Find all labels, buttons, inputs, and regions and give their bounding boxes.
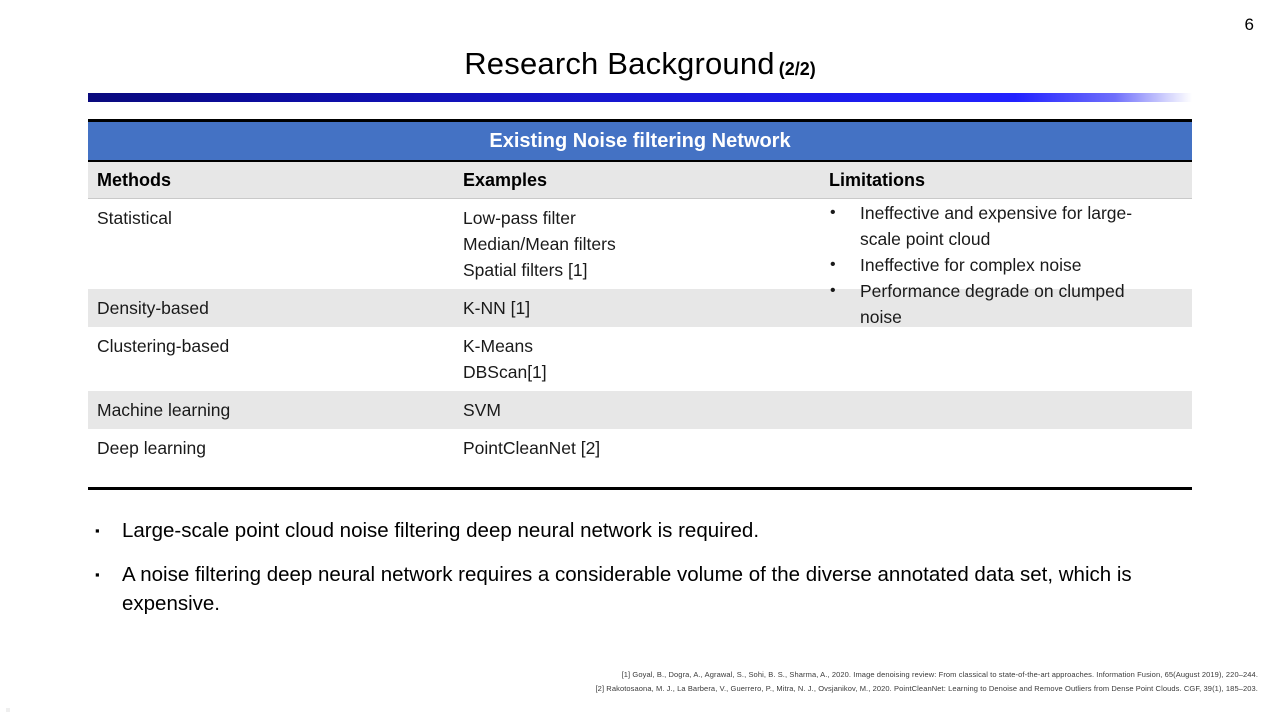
method-label: Statistical	[97, 205, 463, 231]
table-banner: Existing Noise filtering Network	[88, 122, 1192, 162]
takeaway-text: A noise filtering deep neural network re…	[122, 560, 1185, 618]
column-header-methods: Methods	[88, 170, 463, 191]
cell-examples: K-NN [1]	[463, 289, 829, 327]
limitations-list: • Ineffective and expensive for large-sc…	[830, 200, 1160, 330]
corner-marker	[6, 708, 10, 712]
method-label: Deep learning	[97, 435, 463, 461]
cell-examples: Low-pass filter Median/Mean filters Spat…	[463, 199, 829, 289]
example-item: Low-pass filter	[463, 205, 829, 231]
cell-examples: PointCleanNet [2]	[463, 429, 829, 467]
column-header-limitations: Limitations	[829, 170, 1192, 191]
reference-line-1: [1] Goyal, B., Dogra, A., Agrawal, S., S…	[0, 668, 1258, 682]
bullet-dot-icon: •	[830, 278, 860, 330]
limitation-item: • Ineffective and expensive for large-sc…	[830, 200, 1160, 252]
cell-limitations	[829, 429, 1192, 467]
page-title-text: Research Background	[464, 46, 775, 81]
example-item: DBScan[1]	[463, 359, 829, 385]
column-header-examples: Examples	[463, 170, 829, 191]
limitation-text: Ineffective and expensive for large-scal…	[860, 200, 1160, 252]
example-item: K-Means	[463, 333, 829, 359]
bullet-square-icon: ▪	[95, 560, 122, 618]
cell-method: Statistical	[88, 199, 463, 237]
cell-limitations	[829, 391, 1192, 429]
example-item: K-NN [1]	[463, 295, 829, 321]
cell-examples: K-Means DBScan[1]	[463, 327, 829, 391]
table-row: Clustering-based K-Means DBScan[1]	[88, 327, 1192, 391]
table-header-row: Methods Examples Limitations	[88, 162, 1192, 199]
slide-number: 6	[1245, 16, 1254, 33]
example-item: Median/Mean filters	[463, 231, 829, 257]
page-title-suffix: (2/2)	[779, 59, 816, 79]
bullet-dot-icon: •	[830, 252, 860, 278]
example-item: SVM	[463, 397, 829, 423]
limitation-text: Performance degrade on clumped noise	[860, 278, 1160, 330]
example-item: Spatial filters [1]	[463, 257, 829, 283]
method-label: Density-based	[97, 295, 463, 321]
method-label: Clustering-based	[97, 333, 463, 359]
table-row: Machine learning SVM	[88, 391, 1192, 429]
title-divider-rule	[88, 93, 1192, 102]
limitation-text: Ineffective for complex noise	[860, 252, 1160, 278]
cell-examples: SVM	[463, 391, 829, 429]
method-label: Machine learning	[97, 397, 463, 423]
page-title: Research Background(2/2)	[0, 46, 1280, 82]
table-row: Deep learning PointCleanNet [2]	[88, 429, 1192, 467]
table-bottom-border	[88, 487, 1192, 490]
takeaway-item: ▪ A noise filtering deep neural network …	[95, 560, 1185, 618]
example-item: PointCleanNet [2]	[463, 435, 829, 461]
takeaways-list: ▪ Large-scale point cloud noise filterin…	[95, 516, 1185, 632]
cell-method: Density-based	[88, 289, 463, 327]
takeaway-text: Large-scale point cloud noise filtering …	[122, 516, 1185, 546]
limitation-item: • Ineffective for complex noise	[830, 252, 1160, 278]
bullet-square-icon: ▪	[95, 516, 122, 546]
cell-limitations	[829, 327, 1192, 365]
bullet-dot-icon: •	[830, 200, 860, 252]
takeaway-item: ▪ Large-scale point cloud noise filterin…	[95, 516, 1185, 546]
cell-method: Machine learning	[88, 391, 463, 429]
limitation-item: • Performance degrade on clumped noise	[830, 278, 1160, 330]
cell-method: Clustering-based	[88, 327, 463, 365]
cell-method: Deep learning	[88, 429, 463, 467]
references-block: [1] Goyal, B., Dogra, A., Agrawal, S., S…	[0, 668, 1258, 695]
reference-line-2: [2] Rakotosaona, M. J., La Barbera, V., …	[0, 682, 1258, 696]
